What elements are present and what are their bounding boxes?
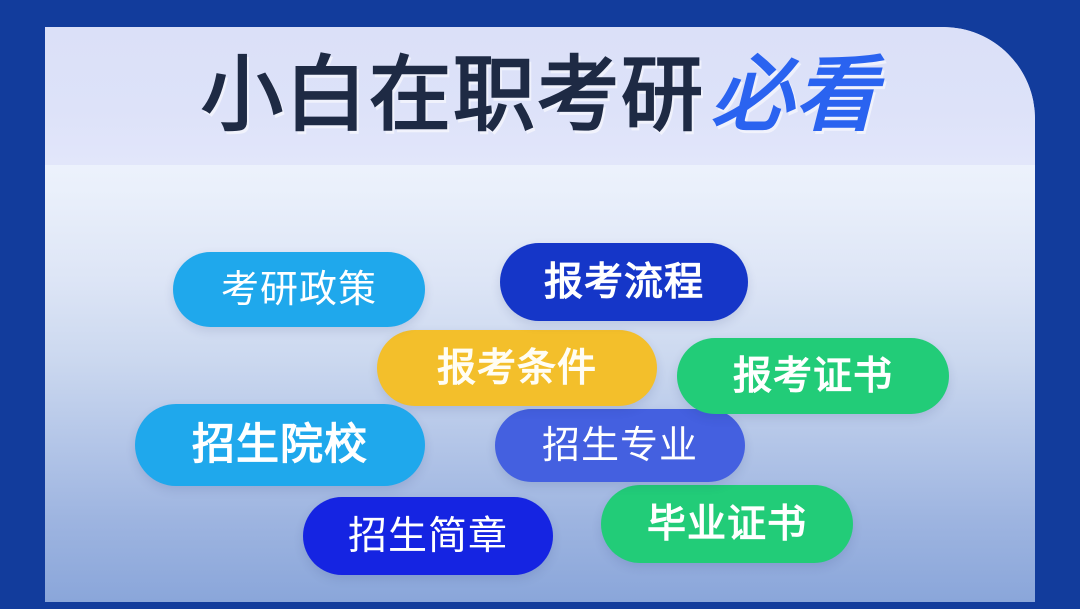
bubble-label: 报考流程: [544, 263, 704, 302]
bubble-tail-icon: [693, 469, 731, 495]
bubble-exam-policy[interactable]: 考研政策: [173, 252, 425, 327]
page-title-main: 小白在职考研: [201, 55, 705, 137]
bubble-label: 招生简章: [348, 517, 508, 556]
bubble-tail-icon: [897, 401, 935, 427]
bubble-label: 招生院校: [192, 424, 368, 467]
content-panel: 小白在职考研 必看 考研政策 报考流程 报考条件 报考证书 招生院校 招生专业: [45, 27, 1035, 602]
bubble-tail-icon: [605, 393, 643, 419]
bubble-tail-icon: [373, 473, 411, 499]
bubble-tail-icon: [696, 308, 734, 334]
page-title: 小白在职考研 必看: [45, 27, 1035, 165]
bubble-application-conditions[interactable]: 报考条件: [377, 330, 657, 406]
bubble-label: 报考条件: [437, 349, 597, 388]
bubble-application-process[interactable]: 报考流程: [500, 243, 748, 321]
bubble-label: 招生专业: [542, 427, 698, 465]
bubble-tail-icon: [373, 314, 411, 340]
bubble-label: 毕业证书: [647, 505, 807, 544]
bubble-enrolling-schools[interactable]: 招生院校: [135, 404, 425, 486]
bubble-label: 报考证书: [733, 357, 893, 396]
bubble-tail-icon: [501, 562, 539, 588]
bubble-graduation-certificate[interactable]: 毕业证书: [601, 485, 853, 563]
page-title-accent: 必看: [711, 55, 879, 137]
bubble-enrolling-majors[interactable]: 招生专业: [495, 409, 745, 482]
bubble-tail-icon: [801, 550, 839, 576]
poster-image: 小白在职考研 必看 考研政策 报考流程 报考条件 报考证书 招生院校 招生专业: [0, 0, 1080, 609]
bubble-label: 考研政策: [221, 271, 377, 309]
bubble-admission-brochure[interactable]: 招生简章: [303, 497, 553, 575]
bubble-application-certificate[interactable]: 报考证书: [677, 338, 949, 414]
